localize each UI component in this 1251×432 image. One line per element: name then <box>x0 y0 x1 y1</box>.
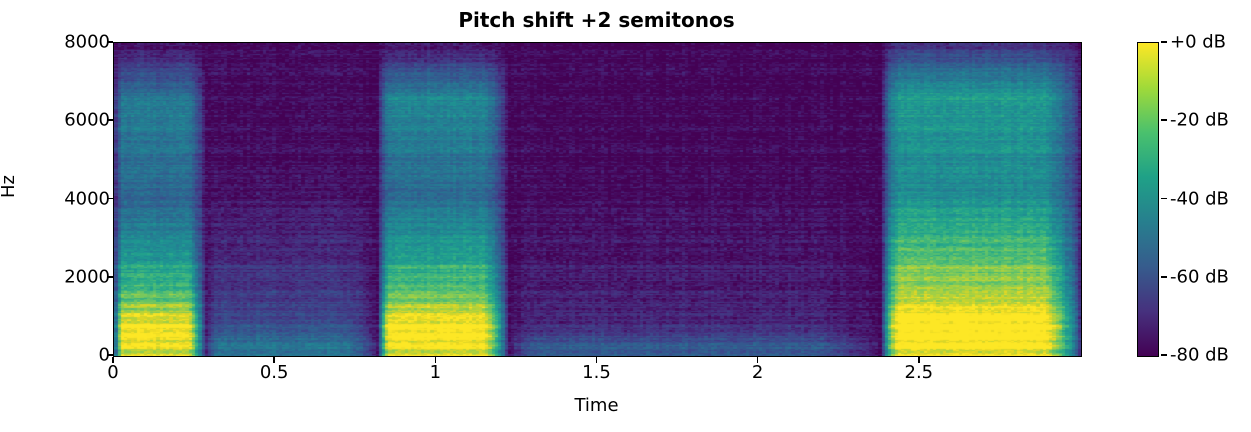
colorbar-tick-label: -40 dB <box>1170 188 1229 209</box>
spectrogram-figure: Pitch shift +2 semitonos Hz Time 0200040… <box>0 0 1251 432</box>
x-tick-mark <box>435 357 437 363</box>
x-tick-label: 2 <box>752 362 763 383</box>
colorbar-tick-mark <box>1161 198 1167 200</box>
x-tick-mark <box>112 357 114 363</box>
x-axis-label: Time <box>113 395 1080 416</box>
x-tick-mark <box>596 357 598 363</box>
colorbar-tick-mark <box>1161 119 1167 121</box>
page-title: Pitch shift +2 semitonos <box>113 8 1080 32</box>
colorbar <box>1137 42 1159 357</box>
colorbar-gradient <box>1138 43 1158 356</box>
colorbar-tick-label: -60 dB <box>1170 266 1229 287</box>
colorbar-tick-mark <box>1161 354 1167 356</box>
colorbar-tick-mark <box>1161 41 1167 43</box>
y-tick-mark <box>107 354 113 356</box>
y-tick-mark <box>107 119 113 121</box>
y-tick-label: 4000 <box>64 188 110 209</box>
x-tick-mark <box>757 357 759 363</box>
y-tick-label: 2000 <box>64 266 110 287</box>
colorbar-tick-mark <box>1161 276 1167 278</box>
x-tick-mark <box>273 357 275 363</box>
y-tick-mark <box>107 276 113 278</box>
x-tick-mark <box>918 357 920 363</box>
colorbar-tick-label: +0 dB <box>1170 32 1226 53</box>
spectrogram-image <box>114 43 1081 356</box>
x-tick-label: 0 <box>107 362 118 383</box>
y-tick-label: 6000 <box>64 110 110 131</box>
x-tick-label: 2.5 <box>905 362 934 383</box>
x-tick-label: 1.5 <box>582 362 611 383</box>
colorbar-tick-label: -80 dB <box>1170 345 1229 366</box>
spectrogram-axes <box>113 42 1082 357</box>
x-tick-label: 1 <box>430 362 441 383</box>
y-axis-label: Hz <box>0 175 19 198</box>
x-tick-label: 0.5 <box>260 362 289 383</box>
y-tick-mark <box>107 41 113 43</box>
colorbar-tick-label: -20 dB <box>1170 110 1229 131</box>
y-tick-mark <box>107 198 113 200</box>
y-tick-label: 8000 <box>64 32 110 53</box>
